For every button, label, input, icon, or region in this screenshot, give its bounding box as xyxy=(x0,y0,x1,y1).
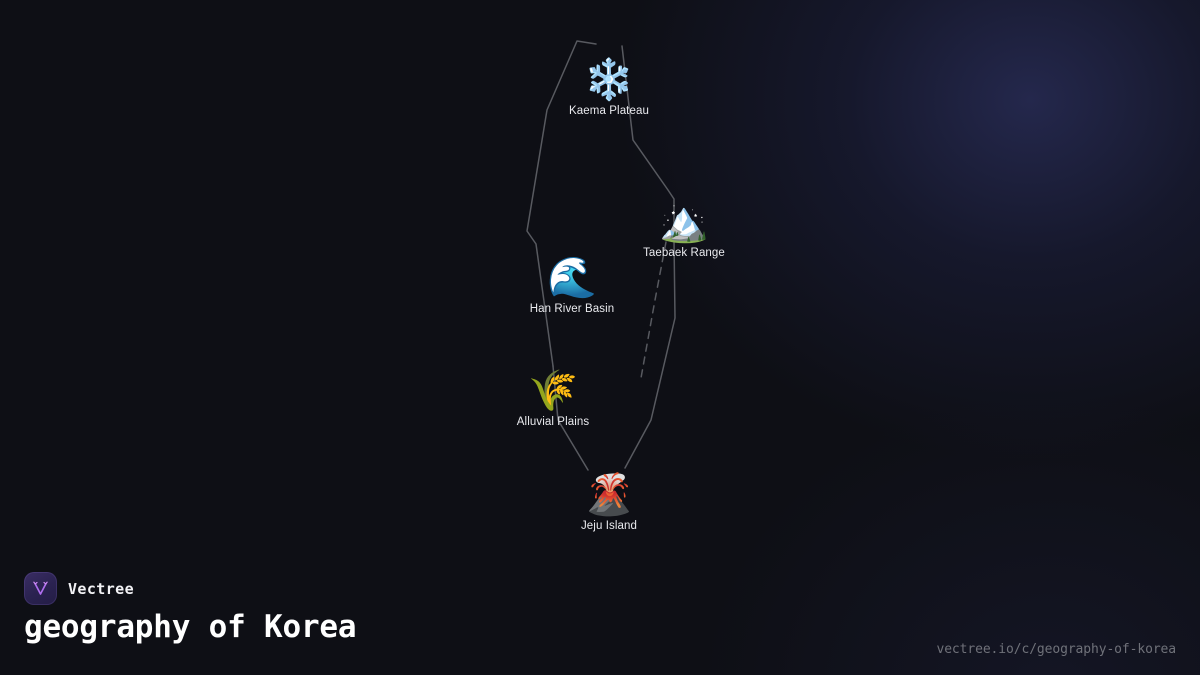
graph-node-label: Jeju Island xyxy=(539,520,679,532)
brand-block: Vectree xyxy=(24,572,134,605)
graph-node-jeju[interactable]: 🌋Jeju Island xyxy=(539,472,679,532)
graph-node-label: Han River Basin xyxy=(502,303,642,315)
graph-node-kaema[interactable]: ❄️Kaema Plateau xyxy=(539,57,679,117)
snowflake-emoji: ❄️ xyxy=(539,57,679,103)
snow-mountain-emoji: 🏔️ xyxy=(614,199,754,245)
graph-node-alluvial[interactable]: 🌾Alluvial Plains xyxy=(483,368,623,428)
graph-node-taebaek[interactable]: 🏔️Taebaek Range xyxy=(614,199,754,259)
brand-name: Vectree xyxy=(68,580,134,598)
footer-url: vectree.io/c/geography-of-korea xyxy=(936,642,1176,657)
graph-node-label: Alluvial Plains xyxy=(483,416,623,428)
sheaf-of-rice-emoji: 🌾 xyxy=(483,368,623,414)
footer-bar: Vectree geography of Korea vectree.io/c/… xyxy=(0,555,1200,675)
page-title: geography of Korea xyxy=(24,609,356,645)
graph-node-label: Kaema Plateau xyxy=(539,105,679,117)
graph-edge xyxy=(641,242,666,378)
vectree-logo-icon xyxy=(24,572,57,605)
water-wave-emoji: 🌊 xyxy=(502,255,642,301)
graph-node-han[interactable]: 🌊Han River Basin xyxy=(502,255,642,315)
volcano-emoji: 🌋 xyxy=(539,472,679,518)
vectree-graph-page: ❄️Kaema Plateau🏔️Taebaek Range🌊Han River… xyxy=(0,0,1200,675)
